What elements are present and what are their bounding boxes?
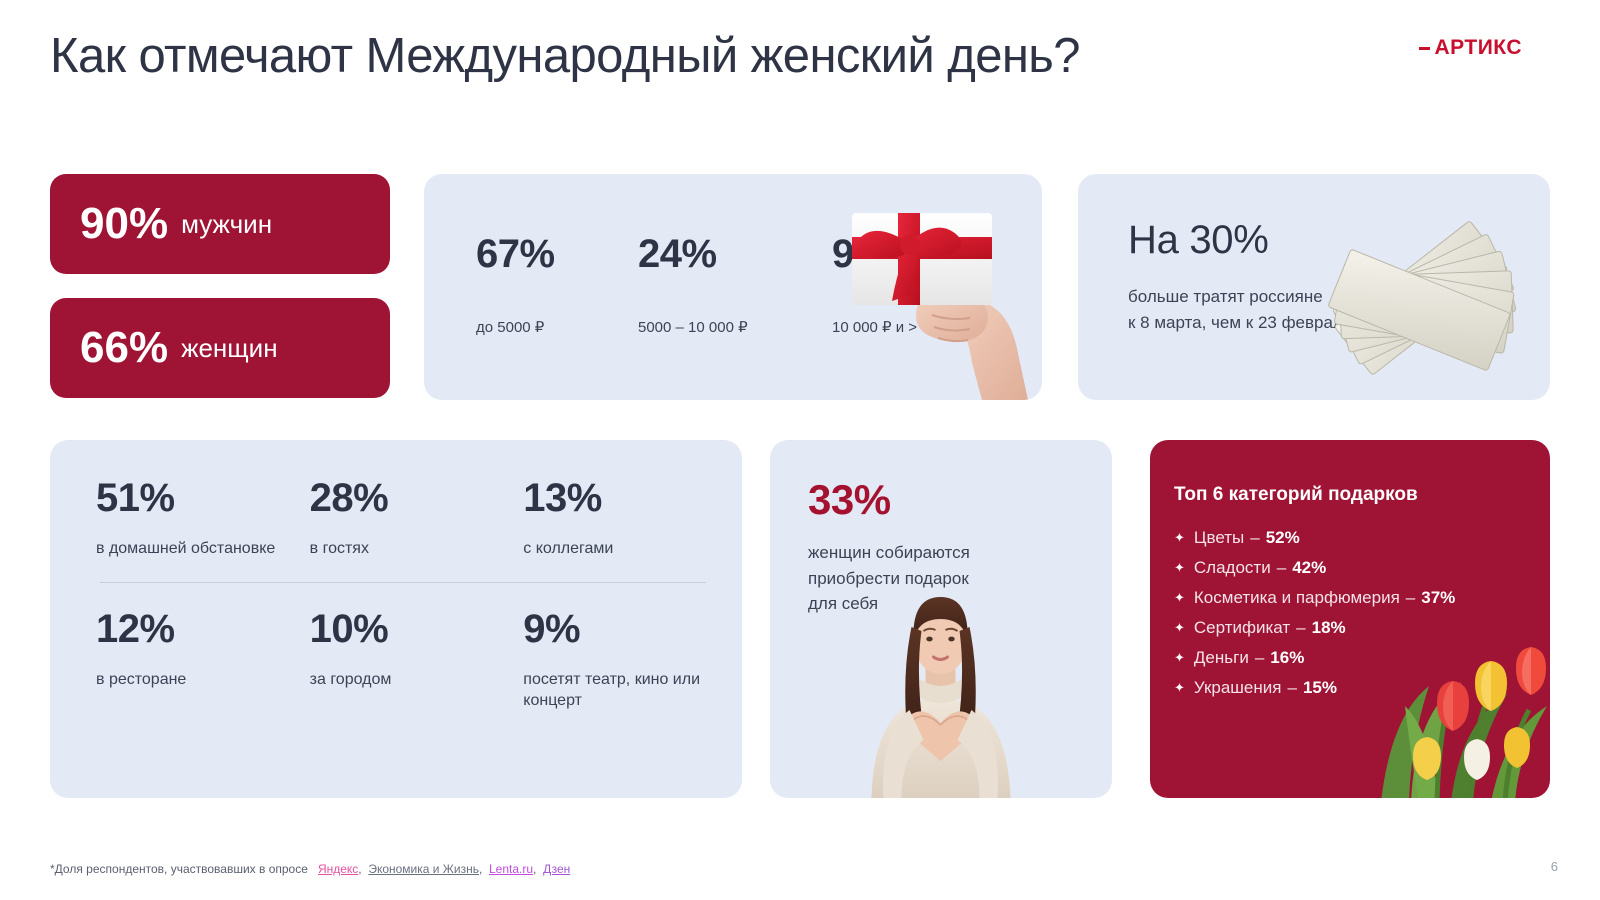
celebration-place-divider (100, 582, 706, 583)
ruble-banknotes-photo (1294, 202, 1544, 392)
top-gift-category-item: ✦ Сертификат – 18% (1174, 618, 1455, 638)
top-gift-category-name: Косметика и парфюмерия (1194, 588, 1400, 608)
sparkle-icon: ✦ (1174, 530, 1185, 546)
top-gift-category-name: Сертификат (1194, 618, 1290, 638)
celebration-place-item: 9% посетят театр, кино или концерт (523, 609, 712, 712)
footer-link-dzen[interactable]: Дзен (543, 862, 570, 876)
gift-budget-item: 24% 5000 – 10 000 ₽ (638, 234, 788, 336)
celebration-place-grid: 51% в домашней обстановке 28% в гостях 1… (96, 478, 712, 712)
top-gift-category-name: Цветы (1194, 528, 1244, 548)
spending-growth-headline: На 30% (1128, 218, 1269, 263)
celebration-place-row: 12% в ресторане 10% за городом 9% посетя… (96, 609, 712, 712)
top-gift-category-percent: 37% (1421, 588, 1455, 608)
celebration-place-item: 10% за городом (310, 609, 524, 712)
celebration-place-card: 51% в домашней обстановке 28% в гостях 1… (50, 440, 742, 798)
stat-pill-women: 66% женщин (50, 298, 390, 398)
celebration-place-label: с коллегами (523, 538, 712, 560)
gift-budget-value: 24% (638, 234, 788, 274)
gift-budget-card: 67% до 5000 ₽ 24% 5000 – 10 000 ₽ 9% 10 … (424, 174, 1042, 400)
celebration-place-value: 12% (96, 609, 310, 649)
top-gift-category-separator: – (1250, 528, 1259, 548)
top-gift-category-percent: 52% (1266, 528, 1300, 548)
footer-link-yandex[interactable]: Яндекс (318, 862, 358, 876)
top-gift-category-item: ✦ Сладости – 42% (1174, 558, 1455, 578)
top-gift-category-separator: – (1296, 618, 1305, 638)
top-gift-category-item: ✦ Косметика и парфюмерия – 37% (1174, 588, 1455, 608)
stat-pill-men-label: мужчин (181, 209, 272, 240)
woman-heart-hands-photo (824, 583, 1059, 798)
footer-comma-2: , (479, 862, 486, 876)
celebration-place-row: 51% в домашней обстановке 28% в гостях 1… (96, 478, 712, 560)
stat-pill-men-value: 90% (80, 202, 168, 246)
gift-budget-value: 67% (476, 234, 594, 274)
celebration-place-value: 9% (523, 609, 712, 649)
celebration-place-value: 13% (523, 478, 712, 518)
celebration-place-label: за городом (310, 669, 524, 691)
footer-comma-1: , (358, 862, 365, 876)
top-gift-category-name: Деньги (1194, 648, 1249, 668)
celebration-place-item: 51% в домашней обстановке (96, 478, 310, 560)
self-gift-card: 33% женщин собираются приобрести подарок… (770, 440, 1112, 798)
celebration-place-label: в ресторане (96, 669, 310, 691)
celebration-place-label: посетят театр, кино или концерт (523, 669, 712, 712)
celebration-place-item: 12% в ресторане (96, 609, 310, 712)
top-gift-category-percent: 15% (1303, 678, 1337, 698)
top-gift-category-item: ✦ Украшения – 15% (1174, 678, 1455, 698)
top-gift-category-name: Украшения (1194, 678, 1282, 698)
logo-dash-icon (1419, 47, 1430, 50)
sparkle-icon: ✦ (1174, 620, 1185, 636)
stat-pill-men: 90% мужчин (50, 174, 390, 274)
spending-growth-card: На 30% больше тратят россияне к 8 марта,… (1078, 174, 1550, 400)
sparkle-icon: ✦ (1174, 590, 1185, 606)
gift-budget-label: 5000 – 10 000 ₽ (638, 318, 788, 336)
page-title: Как отмечают Международный женский день? (50, 28, 1080, 84)
footer-note: *Доля респондентов, участвовавших в опро… (50, 862, 570, 876)
celebration-place-value: 28% (310, 478, 524, 518)
celebration-place-item: 13% с коллегами (523, 478, 712, 560)
stat-pill-women-value: 66% (80, 326, 168, 370)
footer-note-text: *Доля респондентов, участвовавших в опро… (50, 862, 308, 876)
footer-link-lenta-ru[interactable]: Lenta.ru (489, 862, 533, 876)
top-gift-category-separator: – (1277, 558, 1286, 578)
celebration-place-label: в гостях (310, 538, 524, 560)
celebration-place-value: 51% (96, 478, 310, 518)
top-gift-category-item: ✦ Цветы – 52% (1174, 528, 1455, 548)
top-gift-categories-list: ✦ Цветы – 52% ✦ Сладости – 42% ✦ Космети… (1174, 528, 1455, 708)
gift-box-in-hand-photo (846, 185, 1042, 400)
sparkle-icon: ✦ (1174, 680, 1185, 696)
page-number: 6 (1551, 859, 1558, 874)
gift-budget-label: до 5000 ₽ (476, 318, 594, 336)
footer-space (311, 862, 314, 876)
self-gift-label-line1: женщин собираются (808, 540, 970, 566)
logo-text: АРТИКС (1434, 36, 1522, 60)
artiks-logo: АРТИКС (1419, 36, 1522, 60)
footer-comma-3: , (533, 862, 540, 876)
celebration-place-label: в домашней обстановке (96, 538, 310, 560)
top-gift-category-percent: 42% (1292, 558, 1326, 578)
top-gift-category-item: ✦ Деньги – 16% (1174, 648, 1455, 668)
top-gift-categories-title: Топ 6 категорий подарков (1174, 484, 1418, 506)
slide: Как отмечают Международный женский день?… (0, 0, 1600, 900)
top-gift-category-percent: 18% (1312, 618, 1346, 638)
top-gift-category-separator: – (1287, 678, 1296, 698)
celebration-place-item: 28% в гостях (310, 478, 524, 560)
stat-pill-women-label: женщин (181, 333, 277, 364)
self-gift-value: 33% (808, 476, 891, 524)
celebration-place-value: 10% (310, 609, 524, 649)
top-gift-categories-card: Топ 6 категорий подарков ✦ Цветы – 52% ✦… (1150, 440, 1550, 798)
sparkle-icon: ✦ (1174, 560, 1185, 576)
footer-link-ekonomika-i-zhizn[interactable]: Экономика и Жизнь (368, 862, 479, 876)
sparkle-icon: ✦ (1174, 650, 1185, 666)
top-gift-category-separator: – (1406, 588, 1415, 608)
top-gift-category-name: Сладости (1194, 558, 1271, 578)
top-gift-category-separator: – (1255, 648, 1264, 668)
top-gift-category-percent: 16% (1270, 648, 1304, 668)
gift-budget-item: 67% до 5000 ₽ (476, 234, 594, 336)
